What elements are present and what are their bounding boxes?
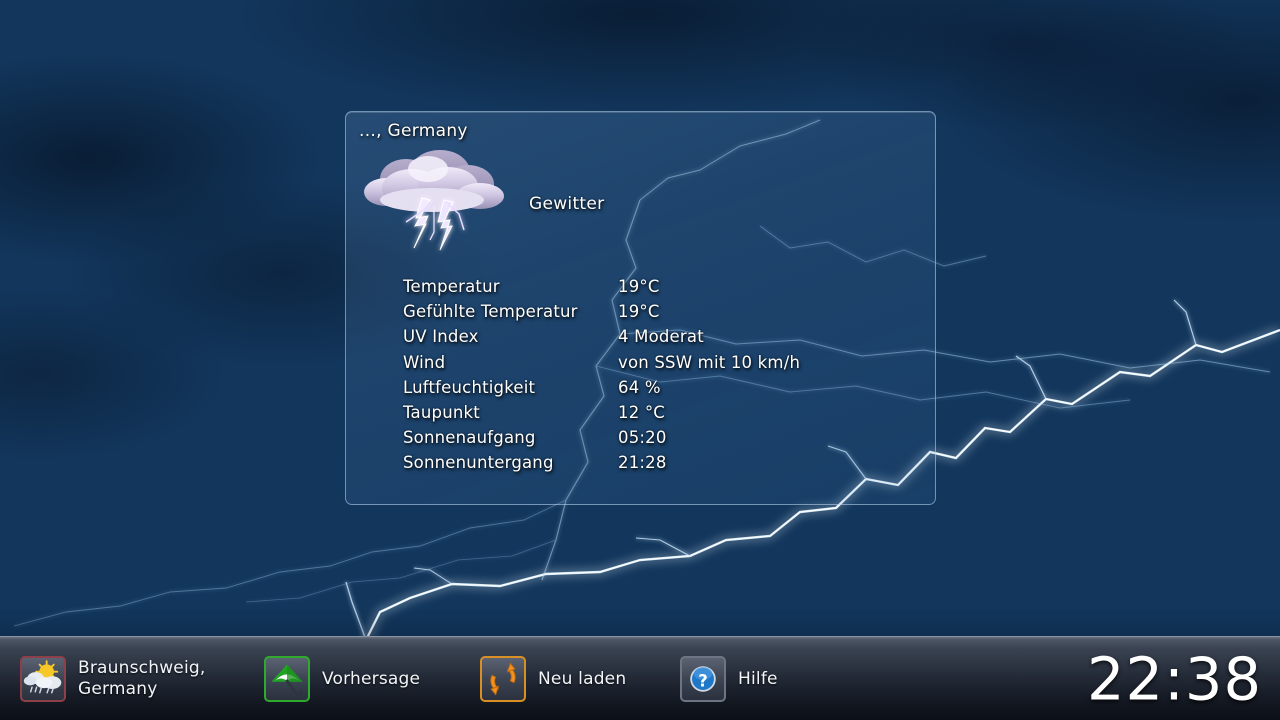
detail-value: 19°C bbox=[618, 302, 660, 321]
detail-label: Wind bbox=[403, 353, 445, 372]
taskbar: Braunschweig, Germany Vorhersage bbox=[0, 636, 1280, 720]
detail-row: Temperatur 19°C bbox=[403, 277, 921, 302]
umbrella-icon bbox=[264, 656, 310, 702]
detail-value: 05:20 bbox=[618, 428, 667, 447]
weather-details-list: Temperatur 19°C Gefühlte Temperatur 19°C… bbox=[403, 277, 921, 479]
detail-row: Gefühlte Temperatur 19°C bbox=[403, 302, 921, 327]
weather-panel: ..., Germany bbox=[345, 111, 936, 505]
detail-row: Sonnenuntergang 21:28 bbox=[403, 453, 921, 478]
svg-text:?: ? bbox=[698, 671, 708, 690]
detail-value: 12 °C bbox=[618, 403, 665, 422]
taskbar-item-reload[interactable]: Neu laden bbox=[480, 637, 626, 720]
detail-row: Sonnenaufgang 05:20 bbox=[403, 428, 921, 453]
detail-label: Sonnenaufgang bbox=[403, 428, 536, 447]
taskbar-help-label: Hilfe bbox=[738, 669, 778, 690]
detail-label: UV Index bbox=[403, 327, 479, 346]
detail-value: von SSW mit 10 km/h bbox=[618, 353, 800, 372]
thunderstorm-cloud-icon bbox=[360, 144, 510, 254]
detail-row: Taupunkt 12 °C bbox=[403, 403, 921, 428]
detail-value: 19°C bbox=[618, 277, 660, 296]
question-mark-icon: ? bbox=[680, 656, 726, 702]
refresh-arrows-icon bbox=[480, 656, 526, 702]
detail-label: Taupunkt bbox=[403, 403, 480, 422]
condition-text: Gewitter bbox=[529, 194, 604, 214]
detail-value: 21:28 bbox=[618, 453, 667, 472]
taskbar-forecast-label: Vorhersage bbox=[322, 669, 420, 690]
panel-location-title: ..., Germany bbox=[359, 121, 468, 141]
detail-value: 4 Moderat bbox=[618, 327, 704, 346]
taskbar-location-label: Braunschweig, Germany bbox=[78, 658, 205, 700]
detail-label: Temperatur bbox=[403, 277, 500, 296]
detail-label: Sonnenuntergang bbox=[403, 453, 554, 472]
taskbar-item-location[interactable]: Braunschweig, Germany bbox=[20, 637, 205, 720]
taskbar-reload-label: Neu laden bbox=[538, 669, 626, 690]
detail-label: Gefühlte Temperatur bbox=[403, 302, 578, 321]
detail-row: Luftfeuchtigkeit 64 % bbox=[403, 378, 921, 403]
detail-row: Wind von SSW mit 10 km/h bbox=[403, 353, 921, 378]
detail-value: 64 % bbox=[618, 378, 661, 397]
taskbar-item-forecast[interactable]: Vorhersage bbox=[264, 637, 420, 720]
taskbar-clock: 22:38 bbox=[1087, 649, 1262, 708]
detail-label: Luftfeuchtigkeit bbox=[403, 378, 535, 397]
detail-row: UV Index 4 Moderat bbox=[403, 327, 921, 352]
taskbar-item-help[interactable]: ? Hilfe bbox=[680, 637, 778, 720]
sun-behind-rain-cloud-icon bbox=[20, 656, 66, 702]
